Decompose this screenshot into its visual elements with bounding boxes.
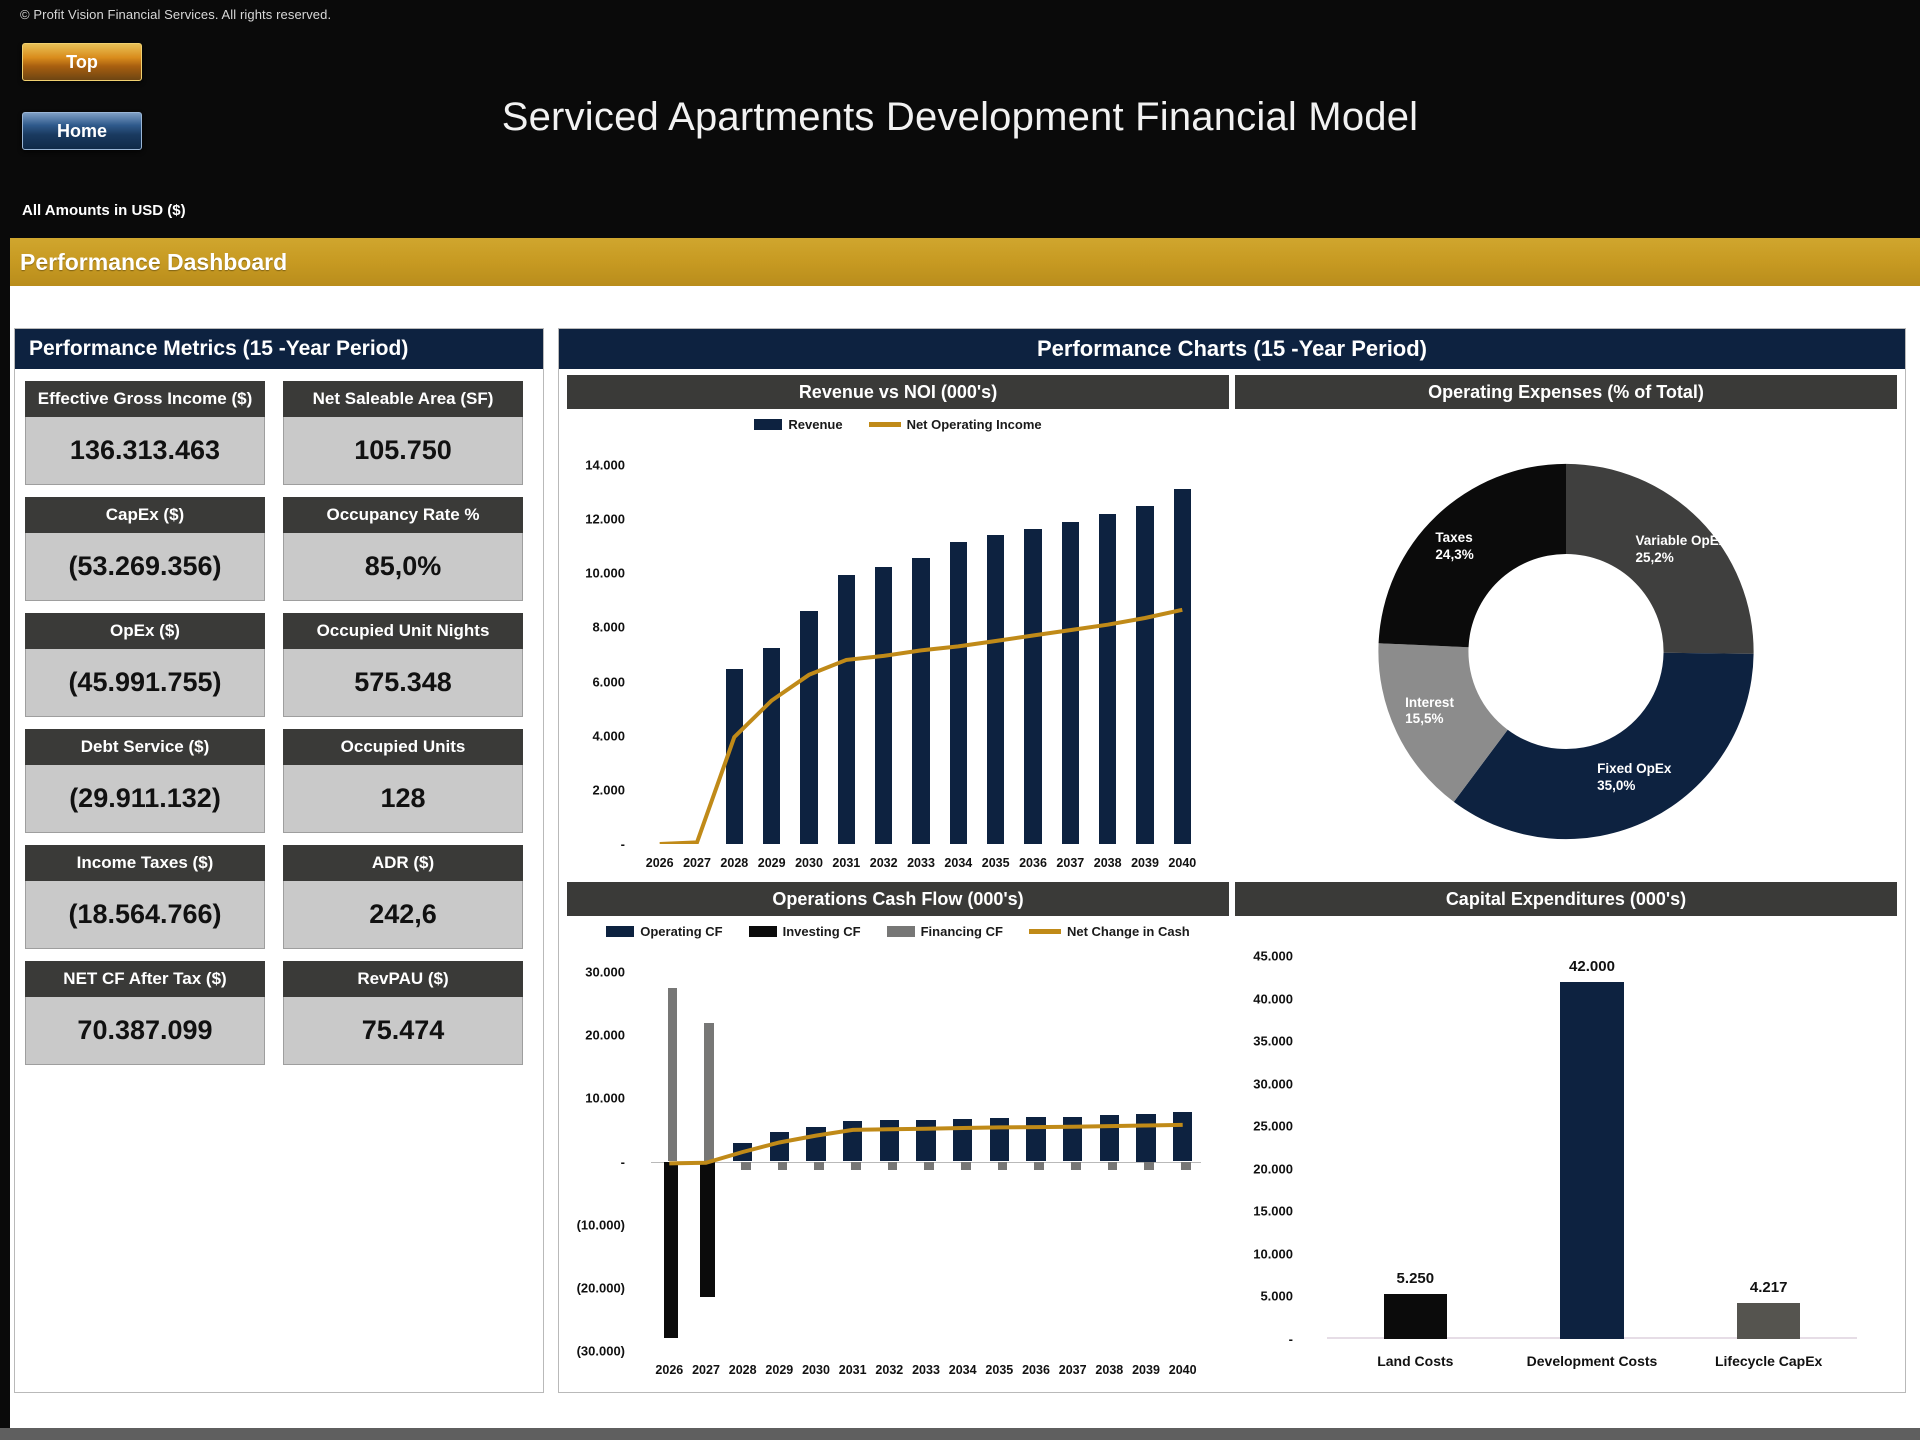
legend-item-investing-cf: Investing CF xyxy=(749,924,861,939)
metric-label: CapEx ($) xyxy=(25,497,265,533)
x-tick: 2030 xyxy=(802,1363,830,1377)
donut-label-taxes: Taxes24,3% xyxy=(1435,530,1473,564)
legend-item-net-change-in-cash: Net Change in Cash xyxy=(1029,924,1190,939)
category-label: Lifecycle CapEx xyxy=(1715,1353,1822,1369)
y-tick: 6.000 xyxy=(592,674,625,689)
y-tick: 35.000 xyxy=(1253,1034,1293,1049)
metric-label: Effective Gross Income ($) xyxy=(25,381,265,417)
left-edge-strip xyxy=(0,238,10,1440)
metric-tile: Effective Gross Income ($)136.313.463 xyxy=(25,381,265,485)
metric-value: 575.348 xyxy=(283,649,523,717)
legend-swatch xyxy=(1029,929,1061,934)
x-axis-labels: 2026202720282029203020312032203320342035… xyxy=(567,1359,1229,1385)
chart-title-operating-expenses: Operating Expenses (% of Total) xyxy=(1235,375,1897,409)
bottom-strip xyxy=(0,1428,1920,1440)
x-tick: 2032 xyxy=(870,856,898,870)
metric-tile: CapEx ($)(53.269.356) xyxy=(25,497,265,601)
charts-panel-header: Performance Charts (15 -Year Period) xyxy=(559,329,1905,369)
chart-operating-expenses[interactable]: Variable OpEx25,2%Fixed OpEx35,0%Interes… xyxy=(1235,409,1897,878)
metric-value: (29.911.132) xyxy=(25,765,265,833)
metric-label: Occupied Unit Nights xyxy=(283,613,523,649)
x-tick: 2037 xyxy=(1059,1363,1087,1377)
y-tick: - xyxy=(621,837,625,852)
donut-label-text: Variable OpEx xyxy=(1635,533,1726,548)
chart-card-capital-expenditures: Capital Expenditures (000's) -5.00010.00… xyxy=(1235,882,1897,1385)
y-tick: 10.000 xyxy=(1253,1246,1293,1261)
charts-grid: Revenue vs NOI (000's) RevenueNet Operat… xyxy=(559,369,1905,1393)
category-label: Development Costs xyxy=(1527,1353,1658,1369)
plot-area xyxy=(641,465,1201,844)
page-title: Serviced Apartments Development Financia… xyxy=(0,95,1920,140)
x-tick: 2038 xyxy=(1094,856,1122,870)
donut-label-value: 25,2% xyxy=(1635,550,1673,565)
x-tick: 2029 xyxy=(758,856,786,870)
chart-operations-cash-flow[interactable]: Operating CFInvesting CFFinancing CFNet … xyxy=(567,916,1229,1385)
dashboard-root: © Profit Vision Financial Services. All … xyxy=(0,0,1920,1440)
y-tick: 45.000 xyxy=(1253,949,1293,964)
chart-title-capital-expenditures: Capital Expenditures (000's) xyxy=(1235,882,1897,916)
x-tick: 2037 xyxy=(1056,856,1084,870)
legend-label: Revenue xyxy=(788,417,842,432)
metric-label: Occupancy Rate % xyxy=(283,497,523,533)
category-label: Land Costs xyxy=(1377,1353,1453,1369)
x-tick: 2040 xyxy=(1168,856,1196,870)
dashboard-title: Performance Dashboard xyxy=(20,249,287,276)
metric-value: 105.750 xyxy=(283,417,523,485)
donut-label-variable-opex: Variable OpEx25,2% xyxy=(1635,533,1726,567)
noi-line xyxy=(641,465,1201,844)
metric-tile: ADR ($)242,6 xyxy=(283,845,523,949)
currency-note: All Amounts in USD ($) xyxy=(22,202,186,219)
x-tick: 2028 xyxy=(720,856,748,870)
metric-label: Occupied Units xyxy=(283,729,523,765)
y-axis-labels: -5.00010.00015.00020.00025.00030.00035.0… xyxy=(1235,916,1297,1385)
x-tick: 2036 xyxy=(1022,1363,1050,1377)
y-axis-labels: (30.000)(20.000)(10.000)-10.00020.00030.… xyxy=(567,916,629,1385)
x-tick: 2028 xyxy=(729,1363,757,1377)
x-tick: 2036 xyxy=(1019,856,1047,870)
metric-tile: NET CF After Tax ($)70.387.099 xyxy=(25,961,265,1065)
legend-label: Financing CF xyxy=(921,924,1003,939)
bar-lifecycle-capex xyxy=(1737,1303,1801,1339)
dashboard-title-bar: Performance Dashboard xyxy=(0,238,1920,286)
legend-item-revenue: Revenue xyxy=(754,417,842,432)
donut-label-value: 15,5% xyxy=(1405,711,1443,726)
legend-label: Net Operating Income xyxy=(907,417,1042,432)
metric-value: 75.474 xyxy=(283,997,523,1065)
chart-card-operations-cash-flow: Operations Cash Flow (000's) Operating C… xyxy=(567,882,1229,1385)
y-tick: (20.000) xyxy=(577,1280,625,1295)
metric-tile: Occupied Units128 xyxy=(283,729,523,833)
metric-label: NET CF After Tax ($) xyxy=(25,961,265,997)
bar-value-label: 4.217 xyxy=(1750,1279,1788,1296)
chart-revenue-vs-noi[interactable]: RevenueNet Operating Income-2.0004.0006.… xyxy=(567,409,1229,878)
x-tick: 2039 xyxy=(1131,856,1159,870)
donut-label-value: 35,0% xyxy=(1597,778,1635,793)
legend-item-net-operating-income: Net Operating Income xyxy=(869,417,1042,432)
y-tick: 20.000 xyxy=(1253,1161,1293,1176)
top-banner: © Profit Vision Financial Services. All … xyxy=(0,0,1920,238)
metric-value: (18.564.766) xyxy=(25,881,265,949)
y-tick: 30.000 xyxy=(585,965,625,980)
metric-label: ADR ($) xyxy=(283,845,523,881)
metric-value: 136.313.463 xyxy=(25,417,265,485)
metric-label: Debt Service ($) xyxy=(25,729,265,765)
metrics-grid: Effective Gross Income ($)136.313.463Net… xyxy=(15,369,543,1065)
chart-capital-expenditures[interactable]: -5.00010.00015.00020.00025.00030.00035.0… xyxy=(1235,916,1897,1385)
x-tick: 2035 xyxy=(985,1363,1013,1377)
donut-slice-fixed-opex[interactable] xyxy=(1454,653,1754,839)
x-tick: 2027 xyxy=(683,856,711,870)
net-change-line xyxy=(651,972,1201,1351)
donut-chart[interactable] xyxy=(1235,409,1897,878)
metric-value: 70.387.099 xyxy=(25,997,265,1065)
metric-value: (53.269.356) xyxy=(25,533,265,601)
y-tick: 40.000 xyxy=(1253,991,1293,1006)
donut-label-text: Taxes xyxy=(1435,530,1472,545)
y-tick: 10.000 xyxy=(585,566,625,581)
donut-label-text: Interest xyxy=(1405,695,1454,710)
x-tick: 2031 xyxy=(839,1363,867,1377)
donut-label-value: 24,3% xyxy=(1435,547,1473,562)
x-tick: 2033 xyxy=(907,856,935,870)
x-tick: 2039 xyxy=(1132,1363,1160,1377)
donut-label-text: Fixed OpEx xyxy=(1597,761,1671,776)
x-tick: 2040 xyxy=(1169,1363,1197,1377)
metric-tile: RevPAU ($)75.474 xyxy=(283,961,523,1065)
y-tick: 5.000 xyxy=(1260,1289,1293,1304)
chart-title-revenue-vs-noi: Revenue vs NOI (000's) xyxy=(567,375,1229,409)
chart-card-operating-expenses: Operating Expenses (% of Total) Variable… xyxy=(1235,375,1897,878)
plot-area: 5.25042.0004.217 xyxy=(1327,956,1857,1339)
y-tick: 15.000 xyxy=(1253,1204,1293,1219)
metric-value: (45.991.755) xyxy=(25,649,265,717)
x-tick: 2031 xyxy=(832,856,860,870)
performance-metrics-panel: Performance Metrics (15 -Year Period) Ef… xyxy=(14,328,544,1393)
bar-value-label: 5.250 xyxy=(1397,1270,1435,1287)
chart-card-revenue-vs-noi: Revenue vs NOI (000's) RevenueNet Operat… xyxy=(567,375,1229,878)
y-axis-labels: -2.0004.0006.0008.00010.00012.00014.000 xyxy=(567,409,629,878)
x-tick: 2035 xyxy=(982,856,1010,870)
legend-label: Net Change in Cash xyxy=(1067,924,1190,939)
bar-development-costs xyxy=(1560,982,1624,1339)
copyright-text: © Profit Vision Financial Services. All … xyxy=(20,7,331,22)
x-tick: 2038 xyxy=(1095,1363,1123,1377)
legend-swatch xyxy=(887,926,915,937)
bar-value-label: 42.000 xyxy=(1569,958,1615,975)
y-tick: 25.000 xyxy=(1253,1119,1293,1134)
x-axis-labels: 2026202720282029203020312032203320342035… xyxy=(567,852,1229,878)
legend-item-financing-cf: Financing CF xyxy=(887,924,1003,939)
metric-tile: Income Taxes ($)(18.564.766) xyxy=(25,845,265,949)
y-tick: 10.000 xyxy=(585,1091,625,1106)
metric-value: 128 xyxy=(283,765,523,833)
metric-label: RevPAU ($) xyxy=(283,961,523,997)
donut-label-interest: Interest15,5% xyxy=(1405,695,1454,729)
legend-label: Investing CF xyxy=(783,924,861,939)
metric-value: 242,6 xyxy=(283,881,523,949)
metric-label: Income Taxes ($) xyxy=(25,845,265,881)
y-tick: - xyxy=(1289,1332,1293,1347)
x-tick: 2033 xyxy=(912,1363,940,1377)
metric-tile: Occupancy Rate %85,0% xyxy=(283,497,523,601)
legend-swatch xyxy=(754,419,782,430)
plot-area xyxy=(651,972,1201,1351)
y-tick: 4.000 xyxy=(592,728,625,743)
y-tick: (10.000) xyxy=(577,1217,625,1232)
bar-land-costs xyxy=(1384,1294,1448,1339)
x-tick: 2034 xyxy=(944,856,972,870)
x-tick: 2029 xyxy=(765,1363,793,1377)
y-tick: - xyxy=(621,1154,625,1169)
metric-tile: Debt Service ($)(29.911.132) xyxy=(25,729,265,833)
legend-swatch xyxy=(749,926,777,937)
y-tick: 2.000 xyxy=(592,782,625,797)
y-tick: 14.000 xyxy=(585,458,625,473)
metric-tile: OpEx ($)(45.991.755) xyxy=(25,613,265,717)
x-tick: 2030 xyxy=(795,856,823,870)
x-tick: 2026 xyxy=(646,856,674,870)
y-tick: (30.000) xyxy=(577,1344,625,1359)
x-tick: 2026 xyxy=(655,1363,683,1377)
metric-value: 85,0% xyxy=(283,533,523,601)
x-tick: 2034 xyxy=(949,1363,977,1377)
x-tick: 2027 xyxy=(692,1363,720,1377)
metrics-panel-header: Performance Metrics (15 -Year Period) xyxy=(15,329,543,369)
y-tick: 8.000 xyxy=(592,620,625,635)
legend-label: Operating CF xyxy=(640,924,722,939)
y-tick: 30.000 xyxy=(1253,1076,1293,1091)
chart-title-operations-cash-flow: Operations Cash Flow (000's) xyxy=(567,882,1229,916)
x-tick: 2032 xyxy=(875,1363,903,1377)
metric-label: OpEx ($) xyxy=(25,613,265,649)
y-tick: 20.000 xyxy=(585,1028,625,1043)
y-tick: 12.000 xyxy=(585,512,625,527)
legend-swatch xyxy=(869,422,901,427)
metric-tile: Net Saleable Area (SF)105.750 xyxy=(283,381,523,485)
metric-label: Net Saleable Area (SF) xyxy=(283,381,523,417)
top-button[interactable]: Top xyxy=(22,43,142,81)
performance-charts-panel: Performance Charts (15 -Year Period) Rev… xyxy=(558,328,1906,1393)
metric-tile: Occupied Unit Nights575.348 xyxy=(283,613,523,717)
donut-label-fixed-opex: Fixed OpEx35,0% xyxy=(1597,761,1671,795)
